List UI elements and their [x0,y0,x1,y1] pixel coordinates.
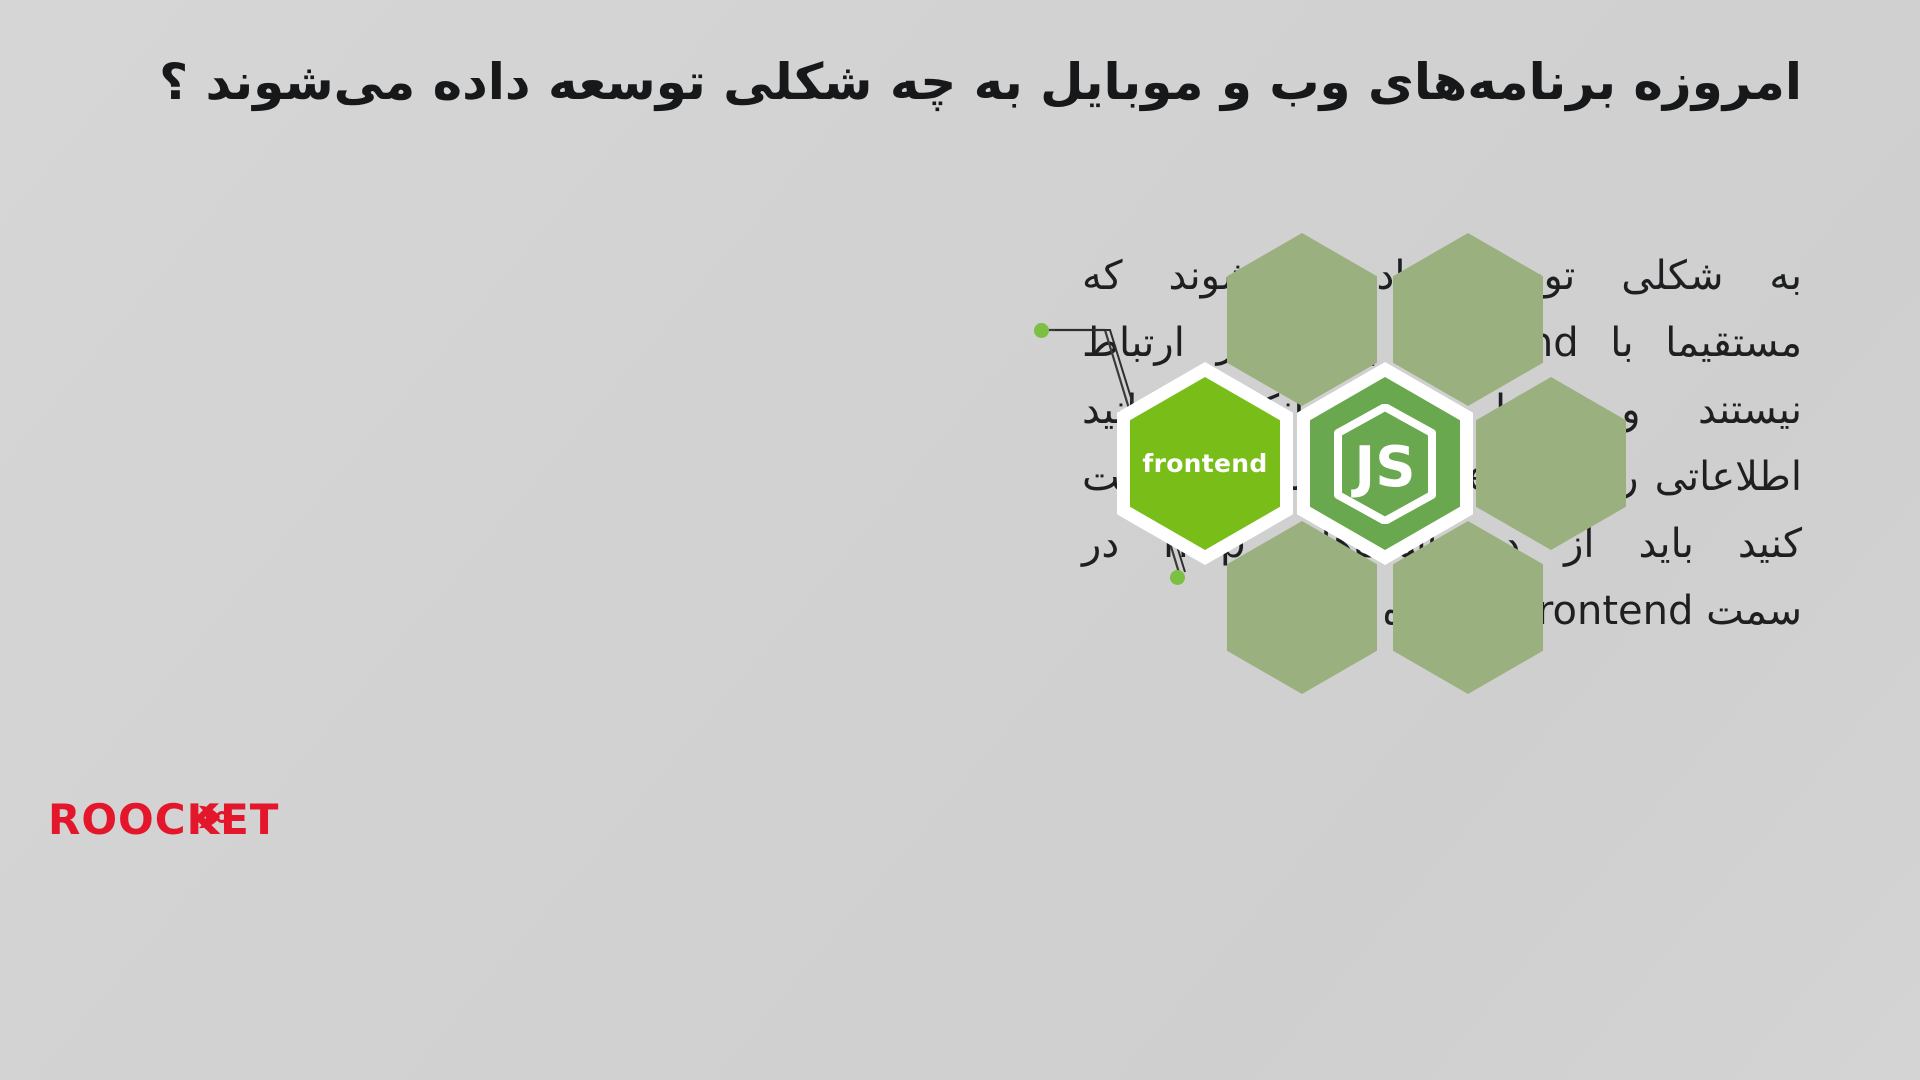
hex-tile-node: JS [1310,377,1460,550]
connector-dot-top [1034,323,1049,338]
page-title: امروزه برنامه‌های وب و موبایل به چه شکلی… [120,52,1802,112]
body-word: نیستند [1698,377,1802,444]
nodejs-js-icon: JS [1333,404,1437,524]
slide-canvas: امروزه برنامه‌های وب و موبایل به چه شکلی… [0,0,1920,1080]
hex-tile-frontend[interactable]: frontend [1130,377,1280,550]
body-word: که [1082,243,1123,310]
body-word: کنید [1738,511,1802,578]
body-word: در [1082,511,1119,578]
body-word: به [1769,243,1802,310]
node-honeycomb-diagram: JS frontend [1165,215,1705,695]
roocket-logo[interactable]: ROOCKET [48,795,279,844]
roocket-logo-text: ROOCKET [48,795,279,844]
js-letters: JS [1350,435,1415,500]
hex-tile-mid-right [1476,377,1626,550]
frontend-label: frontend [1142,449,1267,478]
rocket-icon [198,799,238,835]
